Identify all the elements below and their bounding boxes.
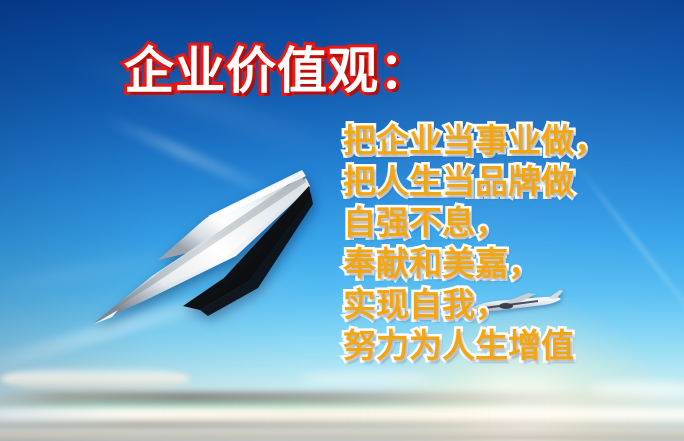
slogan-line-1: 把企业当事业做， <box>343 120 607 161</box>
slogan-block: 把企业当事业做， 把人生当品牌做 自强不息， 奉献和美嘉， 实现自我， 努力为人… <box>343 120 607 366</box>
slogan-line-4: 奉献和美嘉， <box>343 243 607 284</box>
slogan-line-5: 实现自我， <box>343 284 607 325</box>
slogan-line-2: 把人生当品牌做 <box>343 161 607 202</box>
title-block: 企业价值观： <box>124 42 430 100</box>
poster-canvas: 企业价值观： 把企业当事业做， 把人生当品牌做 自强不息， 奉献和美嘉， 实现自… <box>0 0 684 441</box>
slogan-line-6: 努力为人生增值 <box>343 325 607 366</box>
page-title: 企业价值观： <box>124 42 430 100</box>
slogan-line-3: 自强不息， <box>343 202 607 243</box>
